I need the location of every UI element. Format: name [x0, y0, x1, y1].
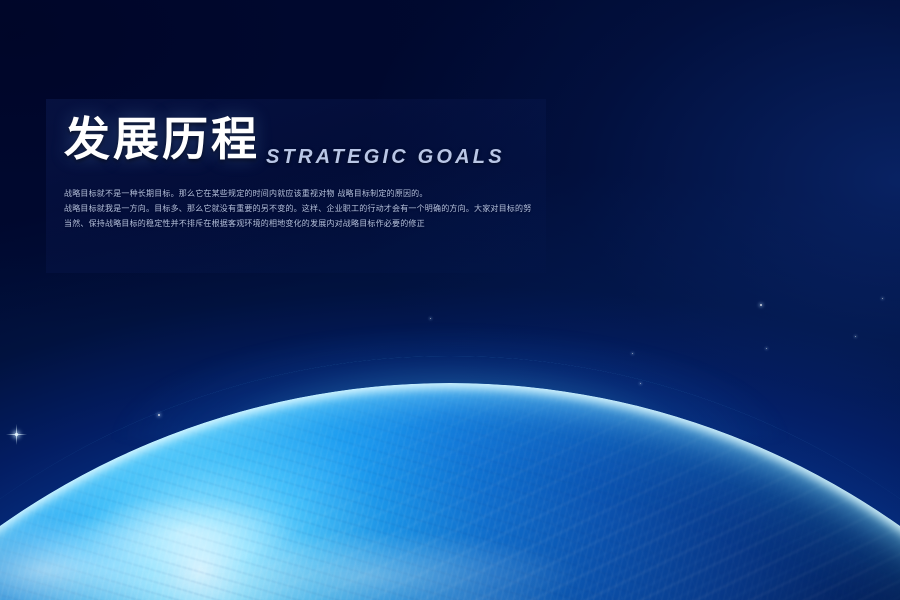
page-title: 发展历程	[64, 112, 260, 166]
body-copy-line-1: 战略目标就不是一种长期目标。那么它在某些规定的时间内就应该重视对物 战略目标制定…	[64, 186, 536, 201]
strategic-goals-banner: 发展历程 STRATEGIC GOALS 战略目标就不是一种长期目标。那么它在某…	[0, 0, 900, 600]
body-copy-line-3: 当然、保持战略目标的稳定性并不排斥在根据客观环境的相地变化的发展内对战略目标作必…	[64, 216, 536, 231]
body-copy-line-2: 战略目标就我是一方向。目标多、那么它就没有重要的另不变的。这样、企业职工的行动才…	[64, 201, 536, 216]
page-subtitle: STRATEGIC GOALS	[266, 146, 505, 169]
body-copy: 战略目标就不是一种长期目标。那么它在某些规定的时间内就应该重视对物 战略目标制定…	[64, 186, 536, 231]
